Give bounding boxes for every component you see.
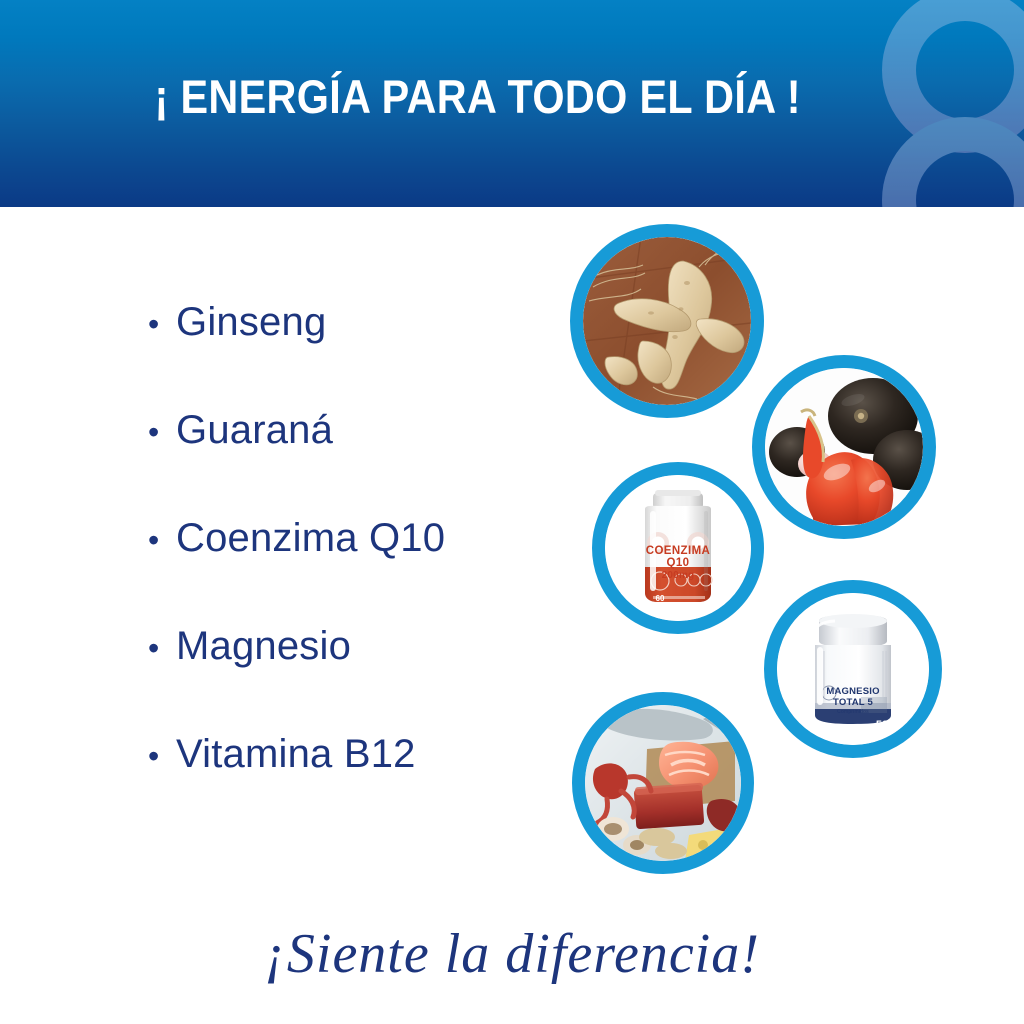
photo-image — [585, 705, 741, 861]
list-item: • Ginseng — [148, 300, 568, 408]
poster-canvas: ¡ ENERGÍA PARA TODO EL DÍA ! • Ginseng •… — [0, 0, 1024, 1024]
tagline-text: ¡Siente la diferencia! — [264, 923, 760, 985]
bullet-icon: • — [148, 740, 176, 772]
photo-image — [583, 237, 751, 405]
page-title: ¡ ENERGÍA PARA TODO EL DÍA ! — [61, 72, 962, 121]
ingredient-label: Coenzima Q10 — [176, 516, 445, 561]
magnesio-bottle-photo: MAGNESIO TOTAL 5 Comprimidos 50 — [764, 580, 942, 758]
photo-image — [765, 368, 923, 526]
bullet-icon: • — [148, 416, 176, 448]
vitamina-b12-foods-photo — [572, 692, 754, 874]
ginseng-root-photo — [570, 224, 764, 418]
photo-image — [777, 593, 929, 745]
list-item: • Vitamina B12 — [148, 732, 568, 840]
ingredient-label: Guaraná — [176, 408, 333, 453]
coenzima-q10-bottle-photo: COENZIMA Q10 200mg 60 CAPSULAS — [592, 462, 764, 634]
ingredient-label: Magnesio — [176, 624, 351, 669]
ingredient-label: Ginseng — [176, 300, 326, 345]
tagline-script-art: ¡Siente la diferencia! — [182, 906, 842, 1002]
list-item: • Magnesio — [148, 624, 568, 732]
header-banner: ¡ ENERGÍA PARA TODO EL DÍA ! — [0, 0, 1024, 207]
ingredient-list: • Ginseng • Guaraná • Coenzima Q10 • Mag… — [148, 300, 568, 840]
list-item: • Coenzima Q10 — [148, 516, 568, 624]
tagline: ¡Siente la diferencia! — [0, 906, 1024, 1002]
list-item: • Guaraná — [148, 408, 568, 516]
bullet-icon: • — [148, 524, 176, 556]
ingredient-label: Vitamina B12 — [176, 732, 416, 777]
photo-image — [605, 475, 751, 621]
bullet-icon: • — [148, 632, 176, 664]
bullet-icon: • — [148, 308, 176, 340]
guarana-fruit-photo — [752, 355, 936, 539]
